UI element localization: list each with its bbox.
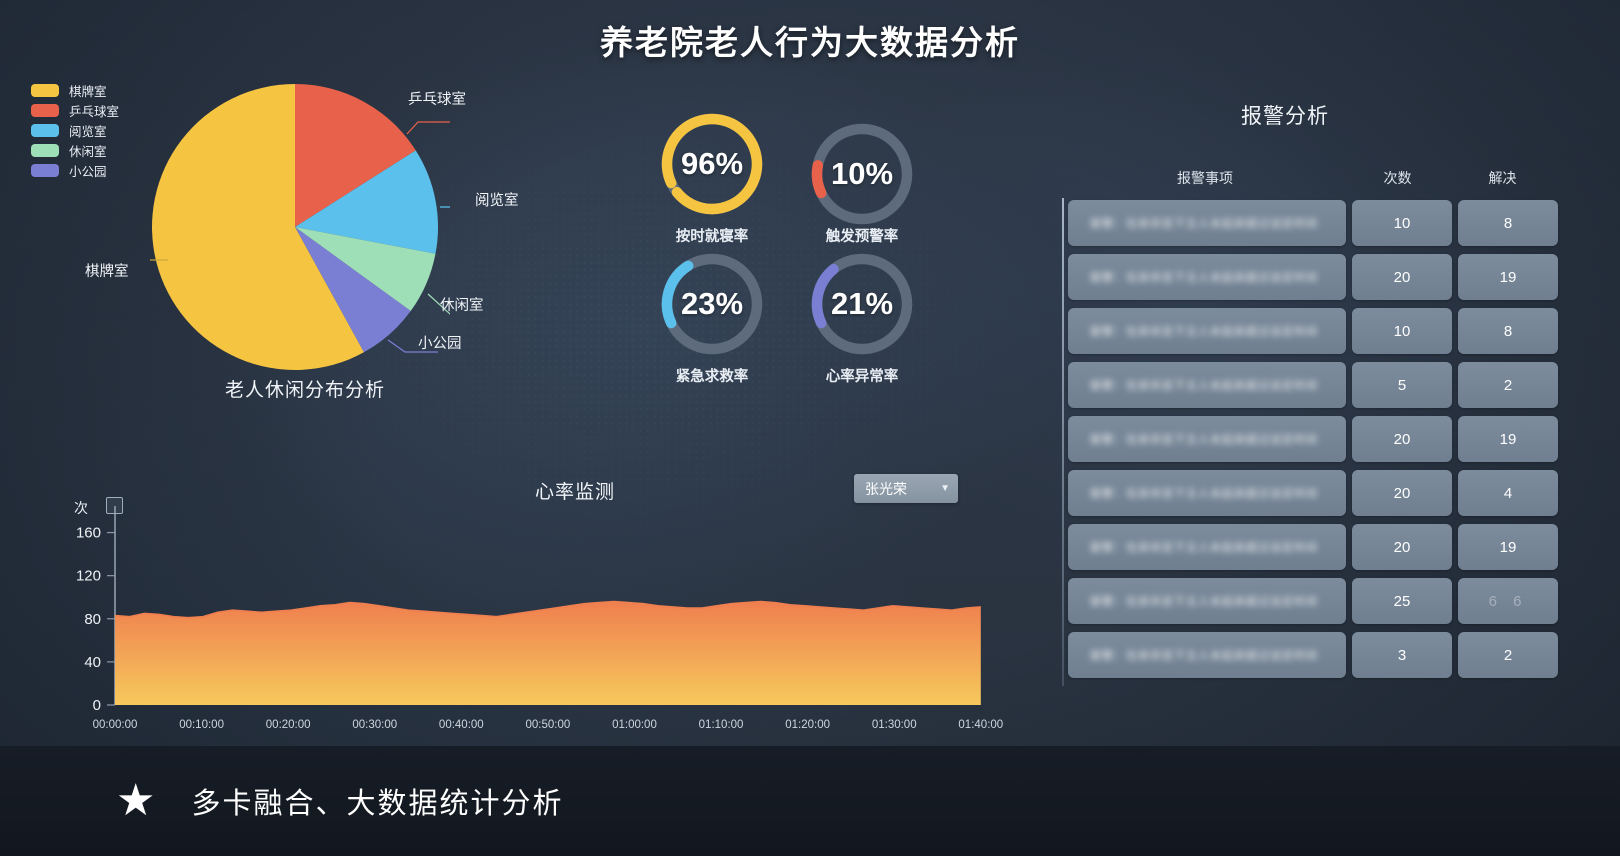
cell-alarm-solved: 8 — [1458, 200, 1558, 246]
cell-alarm-event: 报警：在床状态下主人未起床超过设定时间 — [1068, 470, 1346, 516]
gauge-label-alert-trigger-rate: 触发预警率 — [782, 225, 942, 246]
alarm-event-text: 报警：在床状态下主人未起床超过设定时间 — [1090, 593, 1318, 609]
page-title: 养老院老人行为大数据分析 — [0, 16, 1620, 64]
table-row[interactable]: 报警：在床状态下主人未起床超过设定时间108 — [1068, 200, 1568, 246]
cell-alarm-solved: 19 — [1458, 524, 1558, 570]
cell-alarm-event: 报警：在床状态下主人未起床超过设定时间 — [1068, 578, 1346, 624]
pie-label-chess: 棋牌室 — [85, 260, 129, 281]
x-axis-tick-label: 00:20:00 — [266, 719, 311, 731]
cell-alarm-solved: 4 — [1458, 470, 1558, 516]
legend-item-label: 棋牌室 — [69, 81, 107, 100]
legend-swatch-icon — [31, 104, 59, 117]
table-row[interactable]: 报警：在床状态下主人未起床超过设定时间2019 — [1068, 416, 1568, 462]
gauge-label-heart-anomaly-rate: 心率异常率 — [782, 365, 942, 386]
gauge-value: 21% — [802, 244, 922, 364]
x-axis-tick-label: 00:00:00 — [93, 719, 138, 731]
cell-alarm-count: 3 — [1352, 632, 1452, 678]
legend-item[interactable]: 棋牌室 — [31, 80, 119, 100]
table-row[interactable]: 报警：在床状态下主人未起床超过设定时间108 — [1068, 308, 1568, 354]
cell-alarm-solved: 6 6 — [1458, 578, 1558, 624]
x-axis-tick-label: 01:20:00 — [785, 719, 830, 731]
gauge-bedtime-rate[interactable]: 96% — [652, 104, 772, 224]
y-axis-tick-label: 160 — [76, 525, 101, 542]
alarm-table: 报警：在床状态下主人未起床超过设定时间108报警：在床状态下主人未起床超过设定时… — [1068, 200, 1568, 686]
alarm-event-text: 报警：在床状态下主人未起床超过设定时间 — [1090, 323, 1318, 339]
alarm-event-text: 报警：在床状态下主人未起床超过设定时间 — [1090, 269, 1318, 285]
cell-alarm-event: 报警：在床状态下主人未起床超过设定时间 — [1068, 200, 1346, 246]
legend-item[interactable]: 休闲室 — [31, 140, 119, 160]
column-header-count: 次数 — [1345, 168, 1450, 188]
cell-alarm-count: 25 — [1352, 578, 1452, 624]
y-axis-tick-label: 80 — [84, 611, 101, 628]
cell-alarm-count: 10 — [1352, 200, 1452, 246]
pie-legend: 棋牌室 乒乓球室 阅览室 休闲室 小公园 — [31, 80, 119, 180]
footer-slogan: 多卡融合、大数据统计分析 — [191, 780, 563, 822]
heart-rate-svg: 04080120160 — [60, 505, 1020, 740]
pie-svg — [150, 82, 450, 372]
x-axis-tick-label: 01:30:00 — [872, 719, 917, 731]
y-axis-tick-label: 120 — [76, 568, 101, 585]
cell-alarm-count: 20 — [1352, 416, 1452, 462]
cell-alarm-count: 5 — [1352, 362, 1452, 408]
legend-item[interactable]: 小公园 — [31, 160, 119, 180]
alarm-event-text: 报警：在床状态下主人未起床超过设定时间 — [1090, 215, 1318, 231]
cell-alarm-solved: 8 — [1458, 308, 1558, 354]
table-row[interactable]: 报警：在床状态下主人未起床超过设定时间32 — [1068, 632, 1568, 678]
pie-label-pingpong: 乒乓球室 — [408, 88, 466, 109]
cell-alarm-count: 20 — [1352, 524, 1452, 570]
alarm-panel-title: 报警分析 — [1100, 100, 1470, 130]
cell-alarm-count: 20 — [1352, 254, 1452, 300]
column-header-solved: 解决 — [1450, 168, 1555, 188]
alarm-table-rail — [1062, 198, 1064, 686]
x-axis-tick-label: 00:50:00 — [526, 719, 571, 731]
legend-swatch-icon — [31, 164, 59, 177]
star-icon: ★ — [116, 779, 155, 823]
cell-alarm-event: 报警：在床状态下主人未起床超过设定时间 — [1068, 362, 1346, 408]
x-axis-tick-label: 00:10:00 — [179, 719, 224, 731]
person-select-dropdown[interactable]: 张光荣 ▼ — [854, 474, 958, 503]
alarm-table-header: 报警事项 次数 解决 — [1065, 167, 1565, 189]
legend-item-label: 休闲室 — [69, 141, 107, 160]
y-axis-tick-label: 40 — [84, 654, 101, 671]
kpi-gauge-group: 96% 按时就寝率 10% 触发预警率 23% 紧急求救率 21% 心率异常率 — [640, 100, 940, 400]
footer-bar: ★ 多卡融合、大数据统计分析 — [0, 746, 1620, 856]
cell-alarm-count: 10 — [1352, 308, 1452, 354]
table-row[interactable]: 报警：在床状态下主人未起床超过设定时间256 6 — [1068, 578, 1568, 624]
x-axis-tick-label: 01:00:00 — [612, 719, 657, 731]
cell-alarm-event: 报警：在床状态下主人未起床超过设定时间 — [1068, 632, 1346, 678]
gauge-value: 96% — [652, 104, 772, 224]
legend-swatch-icon — [31, 144, 59, 157]
table-row[interactable]: 报警：在床状态下主人未起床超过设定时间52 — [1068, 362, 1568, 408]
alarm-event-text: 报警：在床状态下主人未起床超过设定时间 — [1090, 647, 1318, 663]
legend-item[interactable]: 乒乓球室 — [31, 100, 119, 120]
cell-alarm-count: 20 — [1352, 470, 1452, 516]
cell-alarm-event: 报警：在床状态下主人未起床超过设定时间 — [1068, 254, 1346, 300]
chevron-down-icon: ▼ — [940, 483, 950, 494]
y-axis-tick-label: 0 — [93, 697, 101, 714]
legend-swatch-icon — [31, 124, 59, 137]
legend-item-label: 阅览室 — [69, 121, 107, 140]
heart-rate-title: 心率监测 — [450, 477, 700, 504]
heart-rate-area — [115, 602, 981, 705]
cell-alarm-solved: 19 — [1458, 254, 1558, 300]
pie-label-park: 小公园 — [418, 332, 462, 353]
table-row[interactable]: 报警：在床状态下主人未起床超过设定时间2019 — [1068, 254, 1568, 300]
gauge-alert-trigger-rate[interactable]: 10% — [802, 114, 922, 234]
x-axis-tick-label: 00:30:00 — [352, 719, 397, 731]
heart-rate-area-chart[interactable]: 04080120160 00:00:0000:10:0000:20:0000:3… — [60, 505, 1020, 740]
legend-item[interactable]: 阅览室 — [31, 120, 119, 140]
pie-label-reading: 阅览室 — [475, 189, 519, 210]
x-axis-tick-label: 01:10:00 — [699, 719, 744, 731]
alarm-event-text: 报警：在床状态下主人未起床超过设定时间 — [1090, 377, 1318, 393]
cell-alarm-solved: 19 — [1458, 416, 1558, 462]
gauge-label-bedtime-rate: 按时就寝率 — [632, 225, 792, 246]
table-row[interactable]: 报警：在床状态下主人未起床超过设定时间204 — [1068, 470, 1568, 516]
legend-item-label: 乒乓球室 — [69, 101, 119, 120]
pie-label-leisure: 休闲室 — [440, 294, 484, 315]
cell-alarm-solved: 2 — [1458, 632, 1558, 678]
leisure-distribution-pie-chart[interactable] — [150, 82, 450, 372]
cell-alarm-solved: 2 — [1458, 362, 1558, 408]
gauge-value: 10% — [802, 114, 922, 234]
gauge-label-emergency-call-rate: 紧急求救率 — [632, 365, 792, 386]
x-axis-tick-label: 01:40:00 — [958, 719, 1003, 731]
alarm-event-text: 报警：在床状态下主人未起床超过设定时间 — [1090, 485, 1318, 501]
gauge-heart-anomaly-rate[interactable]: 21% — [802, 244, 922, 364]
cell-alarm-event: 报警：在床状态下主人未起床超过设定时间 — [1068, 308, 1346, 354]
gauge-value: 23% — [652, 244, 772, 364]
alarm-event-text: 报警：在床状态下主人未起床超过设定时间 — [1090, 431, 1318, 447]
legend-item-label: 小公园 — [69, 161, 107, 180]
column-header-event: 报警事项 — [1065, 168, 1345, 188]
gauge-emergency-call-rate[interactable]: 23% — [652, 244, 772, 364]
x-axis-tick-label: 00:40:00 — [439, 719, 484, 731]
cell-alarm-event: 报警：在床状态下主人未起床超过设定时间 — [1068, 524, 1346, 570]
legend-swatch-icon — [31, 84, 59, 97]
pie-leader-line — [407, 122, 450, 134]
table-row[interactable]: 报警：在床状态下主人未起床超过设定时间2019 — [1068, 524, 1568, 570]
person-select-value: 张光荣 — [865, 479, 907, 499]
alarm-event-text: 报警：在床状态下主人未起床超过设定时间 — [1090, 539, 1318, 555]
cell-alarm-event: 报警：在床状态下主人未起床超过设定时间 — [1068, 416, 1346, 462]
pie-chart-caption: 老人休闲分布分析 — [130, 375, 480, 402]
